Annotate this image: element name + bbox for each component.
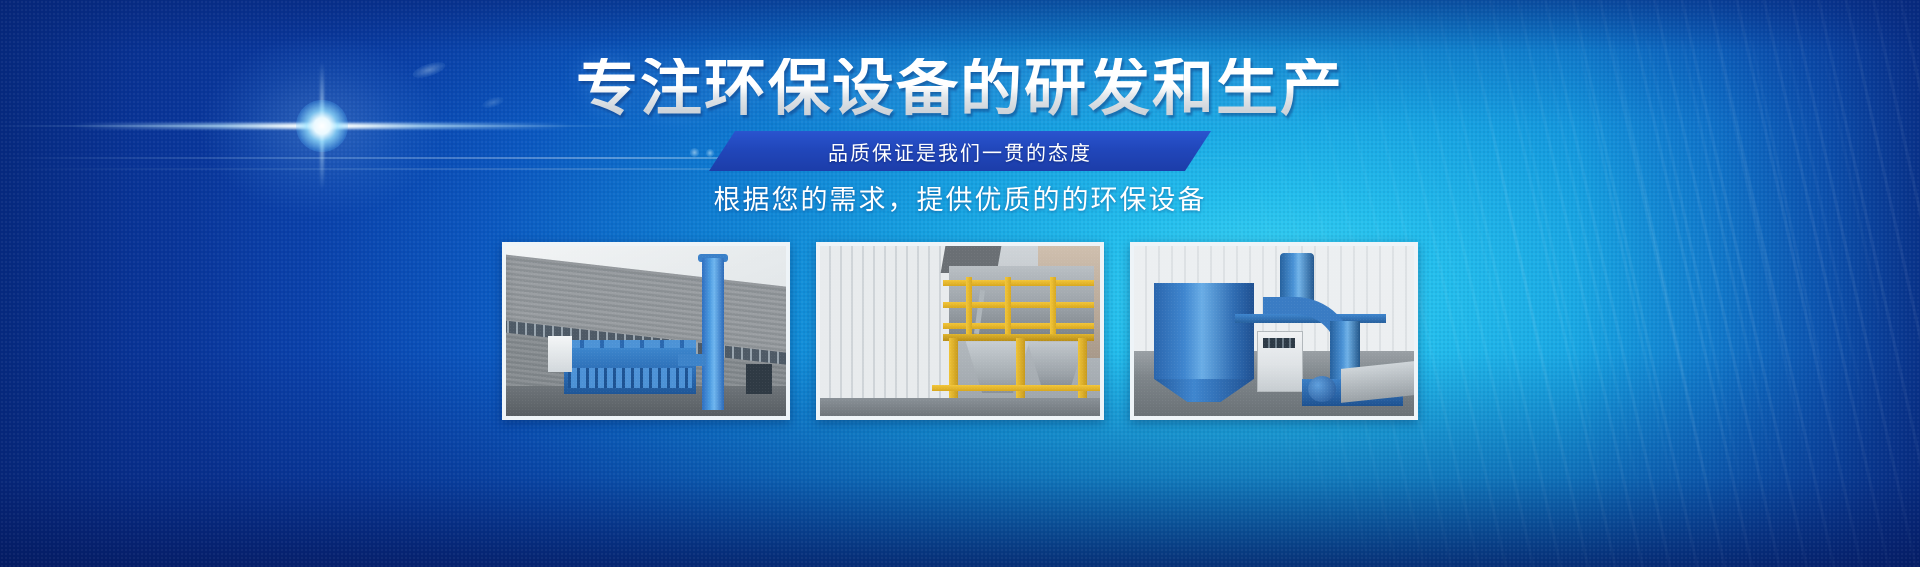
photo1-duct (678, 354, 706, 366)
photo-equipment-platform[interactable] (820, 246, 1100, 416)
photo2-rail-bottom (932, 385, 1100, 391)
tagline-ribbon: 品质保证是我们一贯的态度 (709, 131, 1211, 171)
page-title: 专注环保设备的研发和生产 (0, 58, 1920, 120)
ribbon-container: 品质保证是我们一贯的态度 (0, 131, 1920, 171)
photo-frame-3[interactable] (1130, 242, 1418, 420)
photo-dust-collector[interactable] (1134, 246, 1414, 416)
photo-frame-1[interactable] (502, 242, 790, 420)
banner-content: 专注环保设备的研发和生产 品质保证是我们一贯的态度 根据您的需求，提供优质的的环… (0, 0, 1920, 567)
photo1-door (746, 364, 772, 394)
photo-frame-2[interactable] (816, 242, 1104, 420)
banner-subtitle: 根据您的需求，提供优质的的环保设备 (0, 178, 1920, 217)
photo3-drum (1308, 376, 1336, 402)
photo3-control-panel (1263, 338, 1295, 348)
tagline-ribbon-label: 品质保证是我们一贯的态度 (828, 137, 1092, 166)
photo1-unit-grill (568, 368, 692, 388)
photo1-chimney-stack (702, 258, 724, 410)
photo2-ground (820, 398, 1100, 416)
photo2-post-3 (1050, 277, 1056, 338)
photo2-post-2 (1005, 277, 1011, 338)
photo-factory-building[interactable] (506, 246, 786, 416)
photo-strip (0, 242, 1920, 420)
photo3-blue-tank (1154, 283, 1255, 378)
photo1-white-box (548, 336, 572, 372)
hero-banner: 专注环保设备的研发和生产 品质保证是我们一贯的态度 根据您的需求，提供优质的的环… (0, 0, 1920, 567)
photo2-post-1 (966, 277, 972, 338)
